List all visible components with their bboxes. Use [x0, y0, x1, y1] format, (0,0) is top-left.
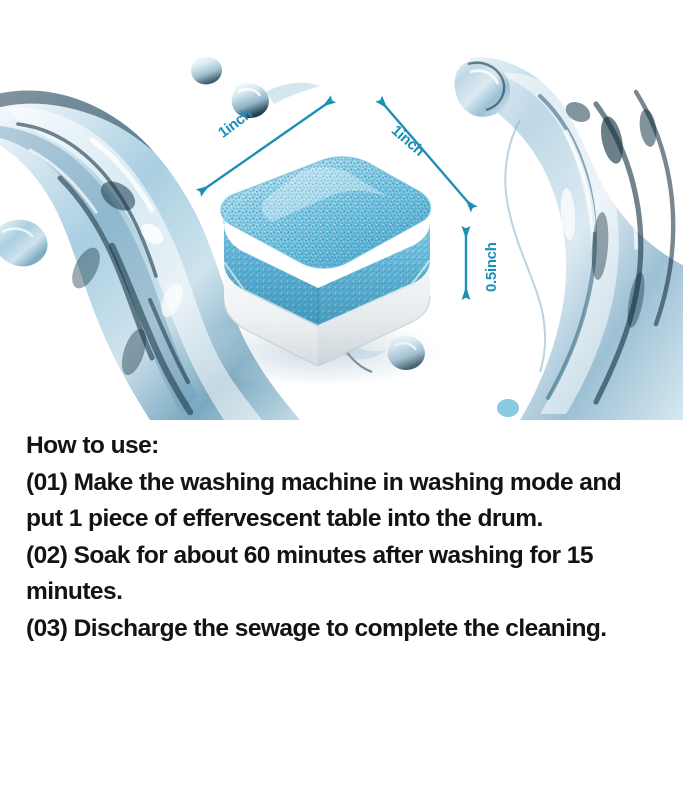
instructions-panel: How to use: (01) Make the washing machin…	[0, 420, 683, 647]
water-droplet-icon	[191, 57, 222, 85]
water-droplet-icon	[497, 399, 519, 417]
product-photo-illustration	[0, 0, 683, 420]
product-photo: 1inch 1inch 0.5inch	[0, 0, 683, 420]
dimension-label-height: 0.5inch	[483, 242, 500, 292]
instruction-step-01: (01) Make the washing machine in washing…	[26, 465, 657, 538]
instruction-step-02: (02) Soak for about 60 minutes after was…	[26, 538, 657, 611]
instruction-step-03: (03) Discharge the sewage to complete th…	[26, 611, 657, 648]
instructions-heading: How to use:	[26, 428, 657, 465]
